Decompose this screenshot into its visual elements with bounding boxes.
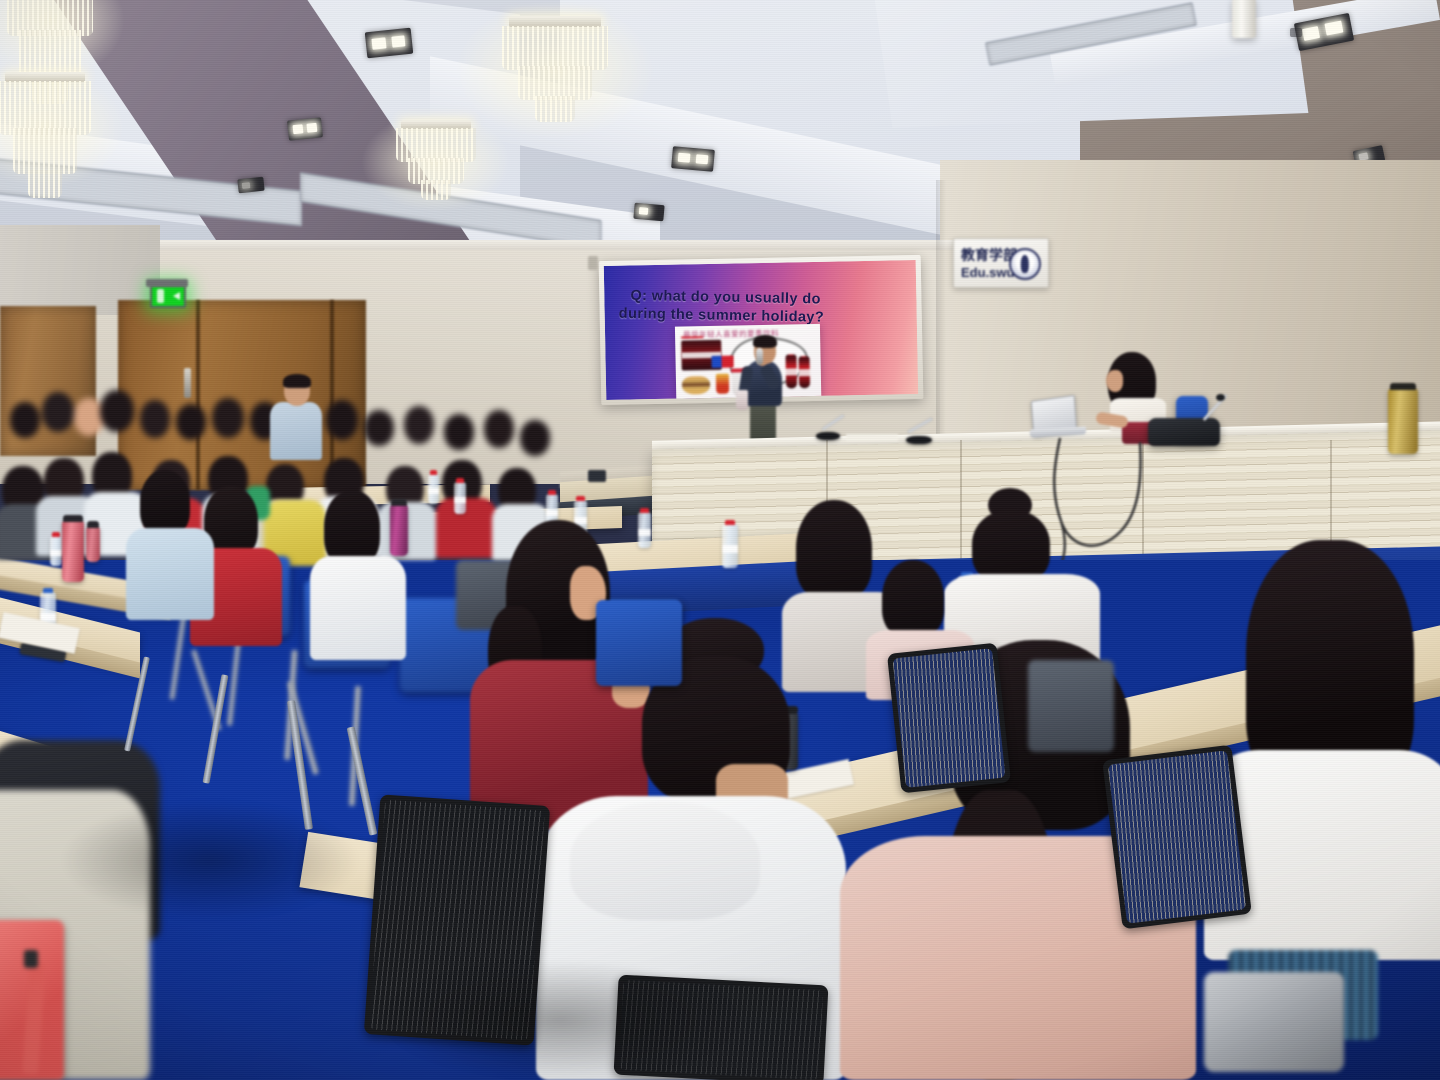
blue-chair-front-center[interactable]: [596, 600, 682, 686]
slide-title-line1: Q: what do you usually do: [630, 288, 821, 309]
student-bun-hair: [972, 510, 1050, 584]
spotlight-1: [365, 28, 413, 59]
presenter-hair: [753, 335, 777, 348]
student-white-shirt: [306, 490, 416, 660]
mesh-chair-1[interactable]: [887, 643, 1011, 794]
spotlight-5: [633, 203, 664, 222]
pink-thermos-1: [62, 520, 84, 582]
student-white-shirt-hair: [324, 490, 380, 566]
presenter: [734, 330, 792, 446]
presenter-held-cup: [736, 390, 748, 410]
student-white-shirt-body: [310, 556, 406, 660]
student-lightblue-shirt: [126, 470, 222, 620]
standing-attendee-hair: [283, 374, 311, 388]
red-underline: [681, 336, 703, 338]
department-wall-sign: 教育学部 Edu.swu: [953, 238, 1049, 288]
mesh-chair-2[interactable]: [1102, 745, 1252, 930]
flag-icon: [711, 356, 733, 368]
fries-icon: [716, 374, 729, 394]
floor-shadow-center: [380, 960, 740, 1080]
water-bottle-1: [428, 474, 439, 504]
operator-face: [1106, 370, 1123, 392]
chandelier-2: [0, 72, 98, 200]
exit-sign-housing: [146, 279, 188, 287]
grey-chair-right[interactable]: [1028, 660, 1114, 752]
chandelier-4: [492, 16, 618, 126]
pink-backpack-buckle: [24, 950, 38, 968]
spotlight-9: [1290, 28, 1302, 37]
cola-bottle-right-2: [799, 356, 811, 388]
student-pink-midright-hair: [882, 560, 944, 638]
university-seal-icon: [1009, 248, 1041, 280]
spotlight-3: [237, 177, 264, 194]
pendant-cylinder-light: [1232, 0, 1256, 38]
chandelier-3: [388, 120, 484, 202]
burger-icon: [682, 376, 710, 395]
water-bottle-6: [722, 524, 738, 568]
gold-thermos: [1388, 388, 1418, 454]
student-grey-hair: [796, 500, 872, 600]
screen-mount-bracket: [588, 256, 598, 270]
spotlight-4: [671, 146, 715, 172]
water-bottle-9: [50, 536, 62, 566]
pink-thermos-2: [86, 526, 100, 562]
handheld-microphone[interactable]: [756, 348, 763, 365]
student-lightblue-hair: [140, 470, 190, 536]
spotlight-2: [287, 117, 323, 140]
podium-mic-head-far-right: [1216, 394, 1225, 401]
hoodie-hood: [570, 802, 760, 920]
silver-bag: [1204, 972, 1344, 1072]
podium-papers: [846, 434, 898, 441]
lecture-hall-photo: 教育学部 Edu.swu Q: what do you usually do d…: [0, 0, 1440, 1080]
podium-mic-base-right: [906, 436, 932, 444]
exit-sign: [150, 284, 186, 308]
podium-mic-base-left: [816, 432, 840, 440]
wall-sign-english: Edu.swu: [961, 265, 1014, 280]
floor-shadow-left: [60, 800, 360, 920]
student-lightblue-body: [126, 528, 214, 620]
water-bottle-2: [454, 482, 466, 514]
